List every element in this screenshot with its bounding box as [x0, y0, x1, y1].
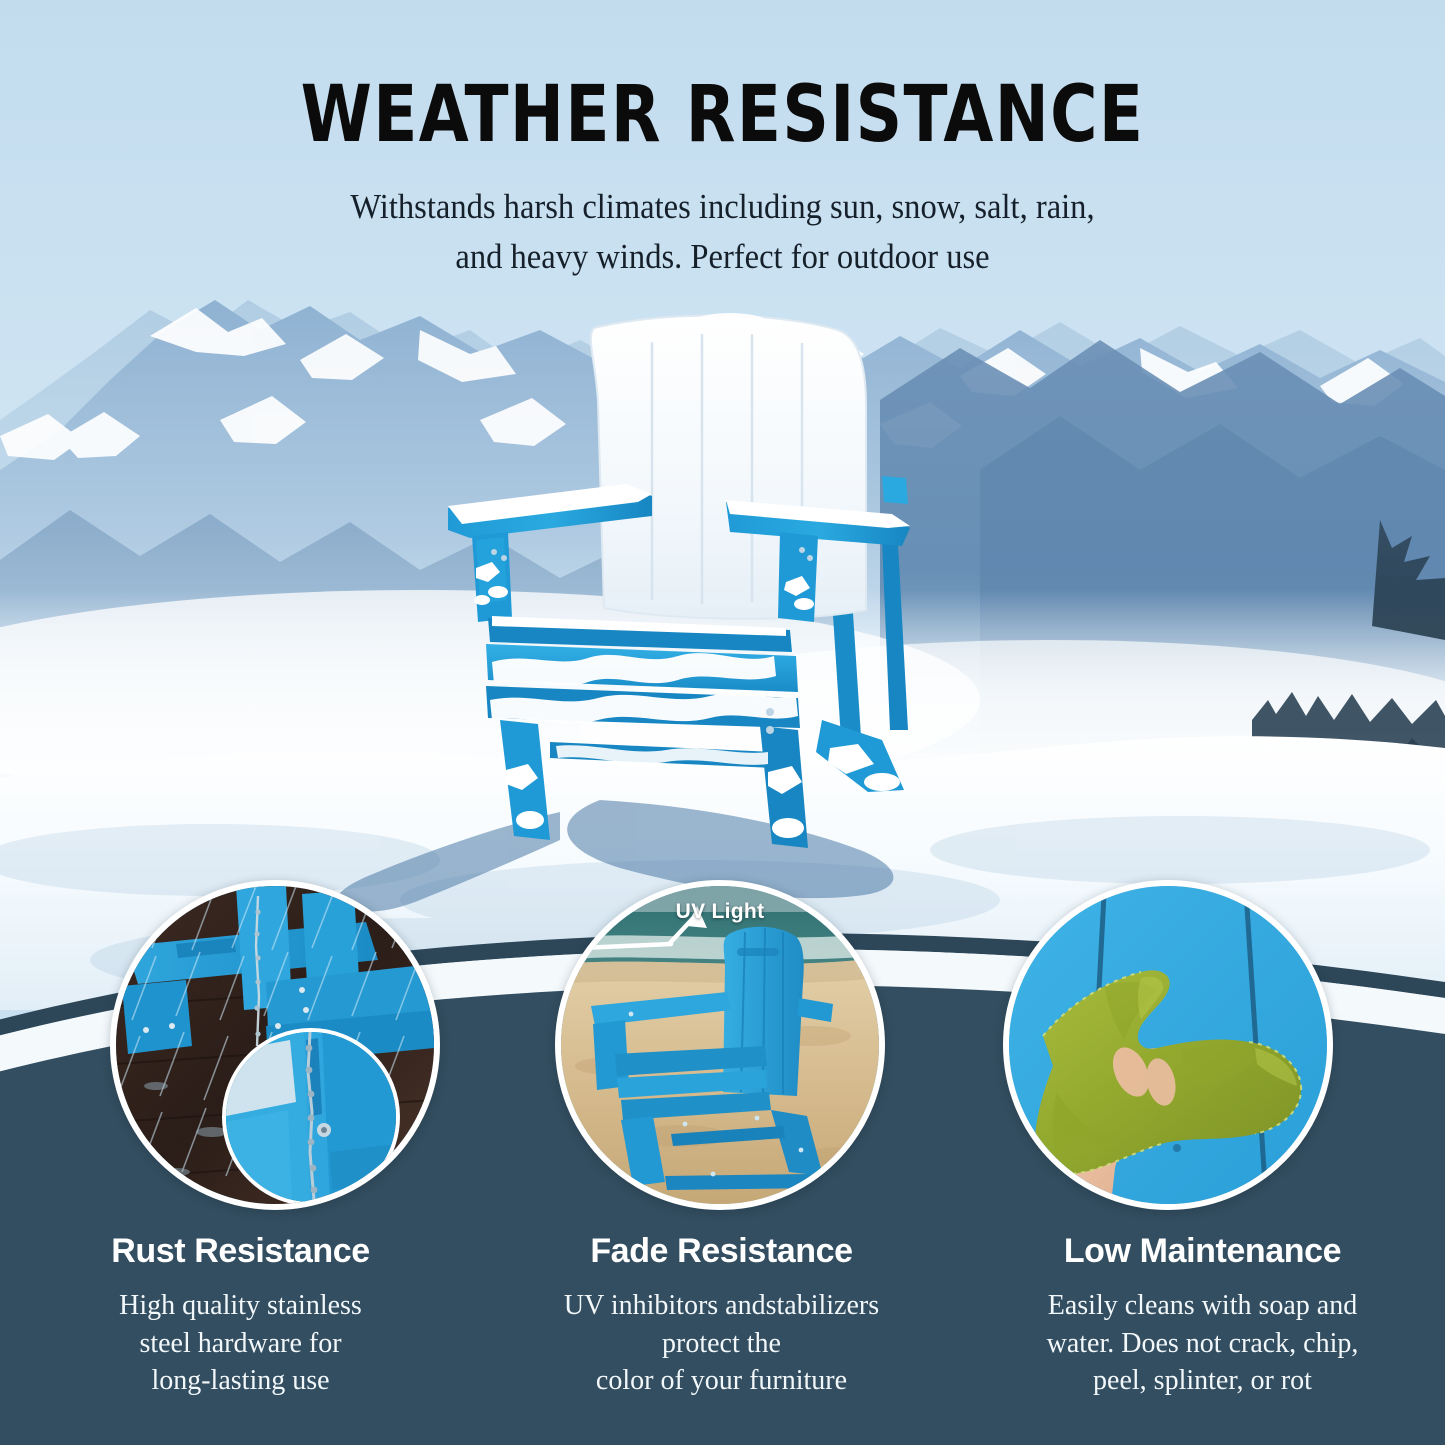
features-text-row: Rust Resistance High quality stainless s…: [0, 1232, 1445, 1400]
desc-line-1: High quality stainless: [18, 1287, 463, 1325]
desc-line-2: water. Does not crack, chip,: [980, 1325, 1425, 1363]
uv-light-label: UV Light: [561, 900, 879, 924]
desc-line-3: color of your furniture: [499, 1362, 944, 1400]
feature-title-rust-resistance: Rust Resistance: [18, 1232, 463, 1271]
desc-line-3: peel, splinter, or rot: [980, 1362, 1425, 1400]
infographic-canvas: WEATHER RESISTANCE Withstands harsh clim…: [0, 0, 1445, 1445]
rust-hardware-inset: [222, 1028, 400, 1206]
feature-title-fade-resistance: Fade Resistance: [499, 1232, 944, 1271]
desc-line-3: long-lasting use: [18, 1362, 463, 1400]
feature-rust-resistance: Rust Resistance High quality stainless s…: [0, 1232, 481, 1400]
feature-images: UV Light: [0, 0, 1445, 1445]
desc-line-2: steel hardware for: [18, 1325, 463, 1363]
feature-fade-resistance: Fade Resistance UV inhibitors andstabili…: [481, 1232, 962, 1400]
desc-line-1: Easily cleans with soap and: [980, 1287, 1425, 1325]
feature-desc-fade-resistance: UV inhibitors andstabilizers protect the…: [499, 1287, 944, 1400]
feature-image-rust-resistance: [110, 880, 440, 1210]
feature-low-maintenance: Low Maintenance Easily cleans with soap …: [962, 1232, 1443, 1400]
feature-desc-rust-resistance: High quality stainless steel hardware fo…: [18, 1287, 463, 1400]
feature-image-low-maintenance: [1003, 880, 1333, 1210]
feature-image-fade-resistance: UV Light: [555, 880, 885, 1210]
feature-title-low-maintenance: Low Maintenance: [980, 1232, 1425, 1271]
desc-line-1: UV inhibitors andstabilizers: [499, 1287, 944, 1325]
feature-desc-low-maintenance: Easily cleans with soap and water. Does …: [980, 1287, 1425, 1400]
desc-line-2: protect the: [499, 1325, 944, 1363]
